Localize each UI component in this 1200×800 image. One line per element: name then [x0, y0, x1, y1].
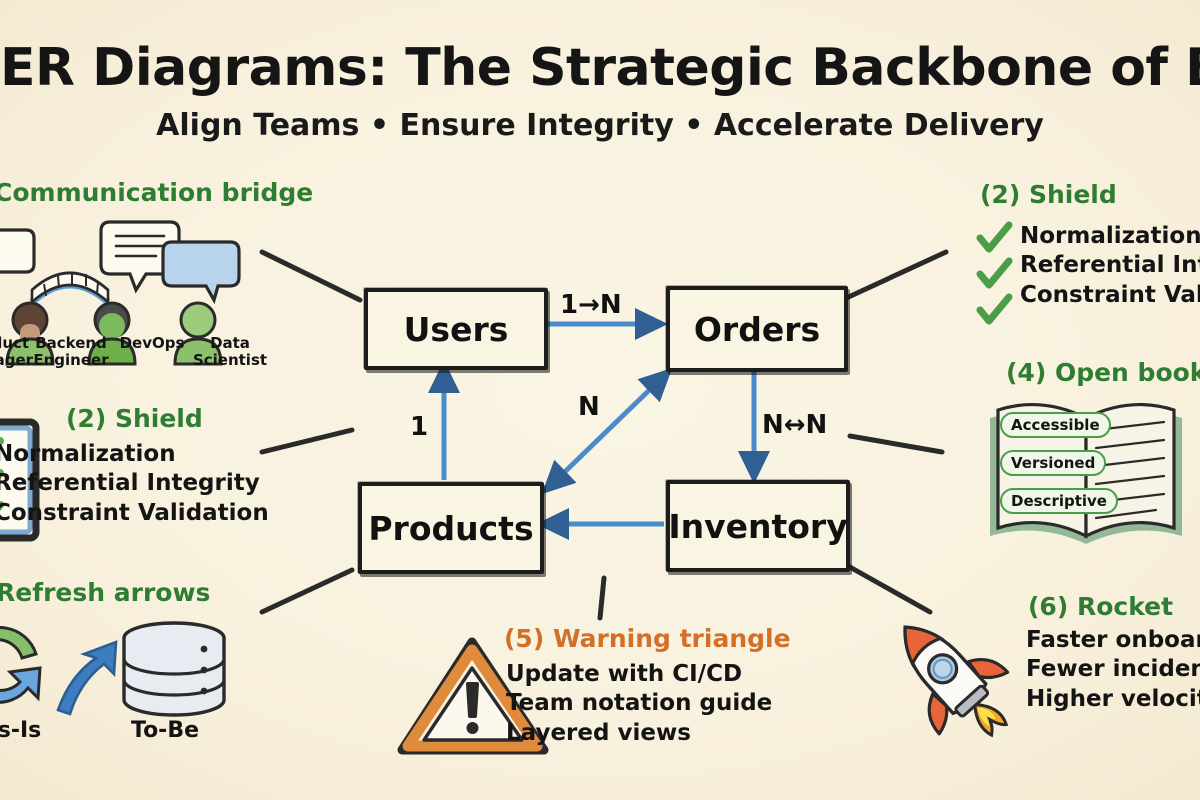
panel-list-rocket: Faster onboarding Fewer incidents Higher…	[1026, 626, 1200, 714]
list-item: Higher velocity	[1026, 685, 1200, 714]
entity-box-users[interactable]: Users	[364, 288, 548, 370]
list-item: Team notation guide	[506, 689, 772, 718]
database-icon	[124, 623, 224, 715]
list-item: Update with CI/CD	[506, 660, 772, 689]
persona-line-1: Backend	[29, 335, 113, 352]
rocket-icon	[872, 604, 1028, 750]
panel-list-shield-left: Normalization Referential Integrity Cons…	[0, 440, 269, 528]
entity-box-orders[interactable]: Orders	[666, 286, 848, 372]
list-item: Referential Integrity	[0, 469, 269, 498]
panel-heading-open-book: (4) Open book	[1006, 358, 1200, 387]
entity-label: Inventory	[668, 507, 847, 546]
open-book-tags: Accessible Versioned Descriptive	[1000, 412, 1118, 514]
refresh-cycle-icon	[0, 628, 40, 703]
tag-accessible: Accessible	[1000, 412, 1111, 438]
persona-line-2: Scientist	[190, 352, 270, 369]
refresh-label-as-is: As-Is	[0, 718, 56, 743]
entity-label: Users	[404, 310, 509, 349]
list-item: Layered views	[506, 719, 772, 748]
panel-heading-communication-bridge: Communication bridge	[0, 178, 313, 207]
upward-arrow-icon	[58, 642, 116, 714]
tag-label: Descriptive	[1011, 492, 1107, 510]
list-item: Constraint Valida	[1020, 281, 1200, 310]
relationship-label-products-users: 1	[410, 412, 428, 442]
persona-line-1: Data	[190, 335, 270, 352]
entity-box-products[interactable]: Products	[358, 482, 544, 574]
persona-label-data-scientist: Data Scientist	[190, 335, 270, 369]
panel-heading-warning-triangle: (5) Warning triangle	[504, 624, 791, 653]
list-item: Constraint Validation	[0, 499, 269, 528]
list-item: Faster onboarding	[1026, 626, 1200, 655]
panel-heading-shield-right: (2) Shield	[980, 180, 1117, 209]
persona-label-devops: DevOps	[116, 335, 188, 352]
persona-line-1: DevOps	[116, 335, 188, 352]
panel-heading-refresh-arrows: Refresh arrows	[0, 578, 210, 607]
persona-label-backend-engineer: Backend Engineer	[29, 335, 113, 369]
list-item: Referential Integ	[1020, 251, 1200, 280]
refresh-label-to-be: To-Be	[110, 718, 220, 743]
panel-list-shield-right: Normalization Referential Integ Constrai…	[1020, 222, 1200, 310]
list-item: Normalization	[0, 440, 269, 469]
speech-bubble-icon	[0, 230, 34, 286]
relationship-label-products-orders: N	[578, 392, 600, 422]
entity-label: Orders	[694, 310, 820, 349]
persona-line-2: Engineer	[29, 352, 113, 369]
tag-descriptive: Descriptive	[1000, 488, 1118, 514]
tag-label: Accessible	[1011, 416, 1100, 434]
list-item: Fewer incidents	[1026, 655, 1200, 684]
tag-label: Versioned	[1011, 454, 1095, 472]
panel-heading-rocket: (6) Rocket	[1028, 592, 1173, 621]
relationship-label-orders-inventory: N↔N	[762, 410, 827, 440]
entity-box-inventory[interactable]: Inventory	[666, 480, 850, 572]
infographic-canvas: ER Diagrams: The Strategic Backbone of B…	[0, 0, 1200, 800]
entity-label: Products	[368, 509, 533, 548]
bridge-icon	[32, 272, 108, 302]
list-item: Normalization	[1020, 222, 1200, 251]
relationship-label-users-orders: 1→N	[560, 290, 622, 320]
tag-versioned: Versioned	[1000, 450, 1106, 476]
speech-bubble-blue-icon	[163, 242, 239, 300]
panel-list-warning-triangle: Update with CI/CD Team notation guide La…	[506, 660, 772, 748]
checkmarks-icon	[974, 222, 1018, 326]
panel-heading-shield-left: (2) Shield	[66, 404, 203, 433]
